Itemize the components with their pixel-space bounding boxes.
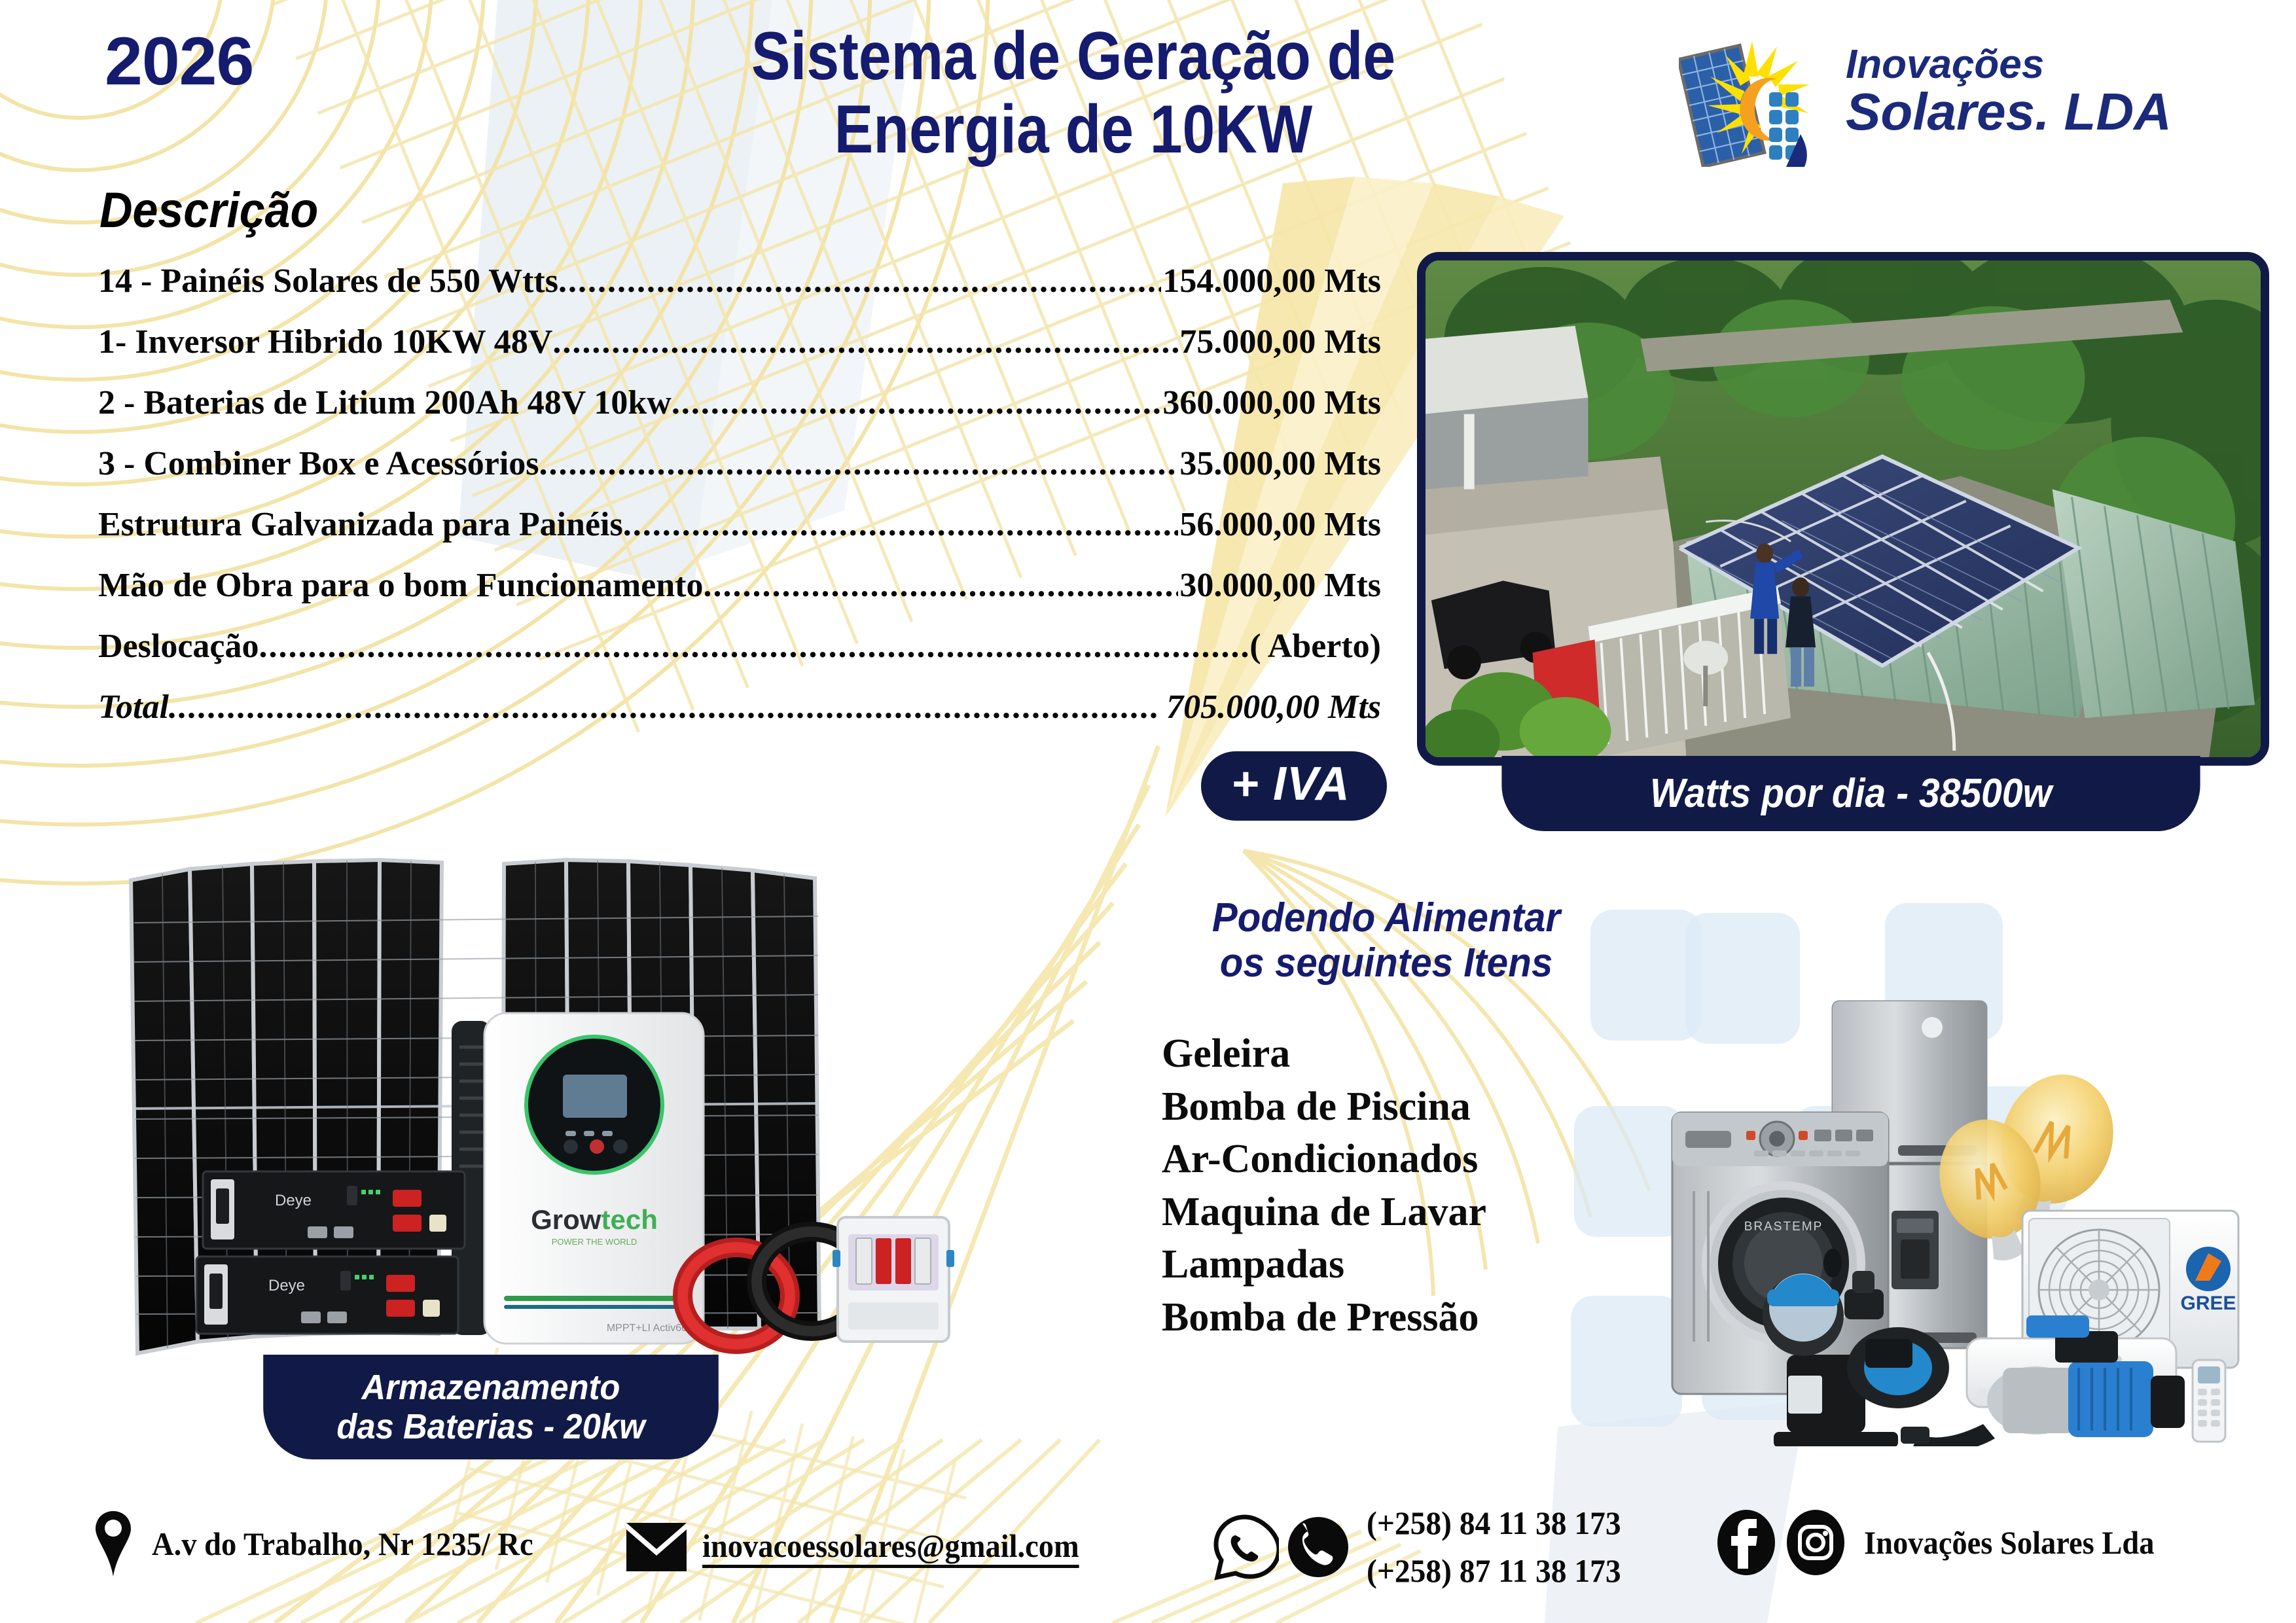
price-row-total: Total ..................................… — [98, 688, 1381, 726]
location-pin-icon — [92, 1508, 135, 1579]
list-item: Lampadas — [1162, 1238, 1486, 1291]
svg-text:Deye: Deye — [268, 1277, 305, 1294]
leader-dots: ........................................… — [672, 383, 1162, 422]
svg-text:Growtech: Growtech — [531, 1204, 658, 1235]
facebook-icon[interactable] — [1715, 1507, 1778, 1578]
ac-brand-text: GREE — [2180, 1293, 2236, 1314]
list-item: Geleira — [1162, 1027, 1486, 1080]
appliances-collage: BRASTEMP — [1636, 949, 2296, 1446]
price-row: Mão de Obra para o bom Funcionamento ...… — [98, 566, 1381, 605]
solar-kit-image: Growtech POWER THE WORLD MPPT+LI Activ60… — [111, 844, 975, 1361]
price-row: 1- Inversor Hibrido 10KW 48V ...........… — [98, 323, 1381, 361]
logo-line1: Inovações — [1846, 44, 2172, 85]
kit-caption: Armazenamento das Baterias - 20kw — [263, 1355, 719, 1459]
envelope-icon[interactable] — [625, 1520, 688, 1574]
installation-photo-illustration — [1426, 260, 2261, 757]
price-label: 1- Inversor Hibrido 10KW 48V — [98, 323, 552, 361]
leader-dots: ........................................… — [539, 444, 1179, 483]
page-title: Sistema de Geração de Energia de 10KW — [679, 20, 1467, 167]
company-logo: Inovações Solares. LDA — [1679, 36, 2268, 173]
email-text[interactable]: inovacoessolares@gmail.com — [702, 1527, 1079, 1568]
appliances-illustration: BRASTEMP — [1636, 949, 2296, 1446]
list-item: Bomba de Pressão — [1162, 1291, 1486, 1344]
page-title-line1: Sistema de Geração de — [679, 20, 1467, 93]
list-item: Ar-Condicionados — [1162, 1133, 1486, 1186]
leader-dots: ........................................… — [169, 688, 1165, 726]
phone-icon[interactable] — [1284, 1512, 1352, 1582]
address-block: A.v do Trabalho, Nr 1235/ Rc — [92, 1508, 562, 1579]
solar-kit-illustration: Growtech POWER THE WORLD MPPT+LI Activ60… — [111, 844, 975, 1361]
solar-panel-sun-icon — [1679, 36, 1836, 167]
photo-caption: Watts por dia - 38500w — [1501, 756, 2200, 831]
price-row: 3 - Combiner Box e Acessórios ..........… — [98, 444, 1381, 483]
svg-text:MPPT+LI Activ60: MPPT+LI Activ60 — [607, 1323, 687, 1334]
kit-caption-line1: Armazenamento — [362, 1368, 620, 1407]
list-item: Maquina de Lavar — [1162, 1186, 1486, 1239]
leader-dots: ........................................… — [552, 323, 1178, 361]
poster-root: 2026 Sistema de Geração de Energia de 10… — [0, 0, 2296, 1623]
price-row: 14 - Painéis Solares de 550 Wtts .......… — [98, 262, 1381, 300]
footer-contact-bar: A.v do Trabalho, Nr 1235/ Rc inovacoesso… — [0, 1495, 2296, 1600]
price-value: ( Aberto) — [1248, 627, 1381, 666]
price-label: 14 - Painéis Solares de 550 Wtts — [98, 262, 558, 300]
leader-dots: ........................................… — [558, 262, 1161, 300]
svg-text:POWER THE WORLD: POWER THE WORLD — [552, 1237, 637, 1247]
price-value: 35.000,00 Mts — [1178, 444, 1381, 483]
powered-items-heading-line2: os seguintes Itens — [1153, 940, 1620, 986]
price-label: 3 - Combiner Box e Acessórios — [98, 444, 539, 483]
price-label: Mão de Obra para o bom Funcionamento — [98, 566, 703, 605]
phone-number-1[interactable]: (+258) 84 11 38 173 — [1367, 1499, 1621, 1547]
total-value: 705.000,00 Mts — [1165, 688, 1381, 726]
price-value: 360.000,00 Mts — [1161, 383, 1381, 422]
email-block[interactable]: inovacoessolares@gmail.com — [625, 1520, 1107, 1574]
phone-block[interactable]: (+258) 84 11 38 173 (+258) 87 11 38 173 — [1211, 1499, 1634, 1594]
leader-dots: ........................................… — [623, 505, 1179, 544]
price-list: 14 - Painéis Solares de 550 Wtts .......… — [98, 262, 1381, 749]
powered-items-list: Geleira Bomba de Piscina Ar-Condicionado… — [1162, 1027, 1486, 1344]
logo-line2: Solares. LDA — [1846, 85, 2172, 139]
price-label: 2 - Baterias de Litium 200Ah 48V 10kw — [98, 383, 672, 422]
social-handle-text: Inovações Solares Lda — [1864, 1524, 2155, 1561]
price-row: 2 - Baterias de Litium 200Ah 48V 10kw ..… — [98, 383, 1381, 422]
total-label: Total — [98, 688, 169, 726]
price-label: Estrutura Galvanizada para Painéis — [98, 505, 623, 544]
price-row: Deslocação .............................… — [98, 627, 1381, 666]
price-value: 30.000,00 Mts — [1178, 566, 1381, 605]
price-value: 56.000,00 Mts — [1178, 505, 1381, 544]
phone-number-2[interactable]: (+258) 87 11 38 173 — [1367, 1547, 1621, 1595]
powered-items-heading: Podendo Alimentar os seguintes Itens — [1153, 895, 1620, 986]
kit-caption-line2: das Baterias - 20kw — [336, 1407, 645, 1446]
address-text: A.v do Trabalho, Nr 1235/ Rc — [152, 1525, 533, 1563]
description-heading: Descrição — [99, 182, 318, 239]
powered-items-heading-line1: Podendo Alimentar — [1153, 895, 1620, 940]
price-value: 75.000,00 Mts — [1178, 323, 1381, 361]
price-value: 154.000,00 Mts — [1161, 262, 1381, 300]
year-label: 2026 — [105, 27, 253, 96]
logo-text: Inovações Solares. LDA — [1846, 44, 2172, 139]
list-item: Bomba de Piscina — [1162, 1080, 1486, 1133]
svg-text:Deye: Deye — [275, 1192, 312, 1209]
leader-dots: ........................................… — [703, 566, 1178, 605]
price-row: Estrutura Galvanizada para Painéis .....… — [98, 505, 1381, 544]
instagram-icon[interactable] — [1784, 1507, 1847, 1578]
leader-dots: ........................................… — [259, 627, 1248, 666]
washer-brand-text: BRASTEMP — [1744, 1220, 1823, 1234]
installation-photo — [1417, 252, 2269, 766]
page-title-line2: Energia de 10KW — [679, 93, 1467, 166]
whatsapp-icon[interactable] — [1211, 1512, 1279, 1582]
price-label: Deslocação — [98, 627, 259, 666]
social-block[interactable]: Inovações Solares Lda — [1715, 1507, 2176, 1578]
tax-badge: + IVA — [1201, 751, 1387, 821]
